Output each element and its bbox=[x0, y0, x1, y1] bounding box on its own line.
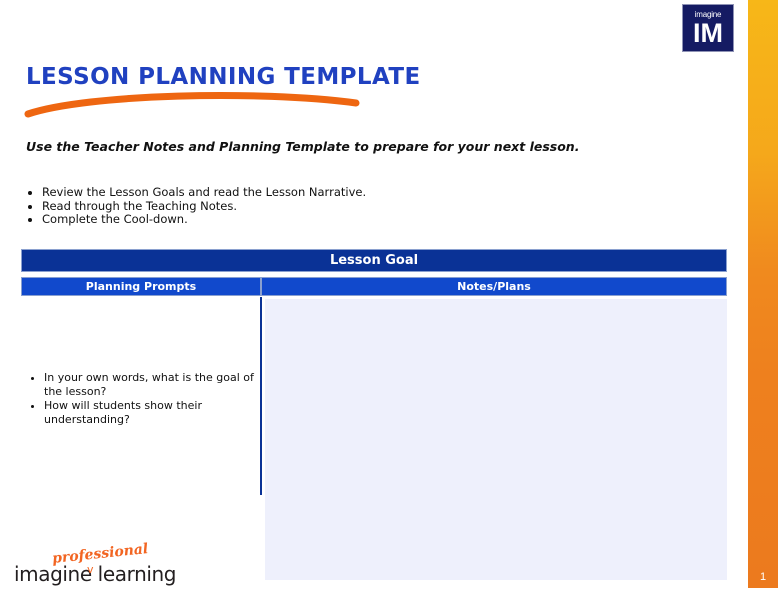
document-page: 1 imagine IM LESSON PLANNING TEMPLATE Us… bbox=[0, 0, 778, 598]
planning-prompts-list: In your own words, what is the goal of t… bbox=[28, 371, 269, 427]
intro-text: Use the Teacher Notes and Planning Templ… bbox=[26, 139, 579, 154]
page-accent-strip bbox=[748, 0, 778, 588]
list-item: In your own words, what is the goal of t… bbox=[44, 371, 269, 398]
list-item: Review the Lesson Goals and read the Les… bbox=[42, 186, 366, 200]
page-title: LESSON PLANNING TEMPLATE bbox=[26, 64, 421, 90]
list-item: Complete the Cool-down. bbox=[42, 213, 366, 227]
list-item: Read through the Teaching Notes. bbox=[42, 200, 366, 214]
table-column-header-notes-plans: Notes/Plans bbox=[261, 277, 727, 296]
table-column-header-planning-prompts: Planning Prompts bbox=[21, 277, 261, 296]
table-section-title: Lesson Goal bbox=[21, 249, 727, 272]
list-item: How will students show their understandi… bbox=[44, 399, 269, 426]
notes-plans-input-area[interactable] bbox=[265, 299, 727, 580]
imagine-learning-footer-logo: professional imagine learning v bbox=[14, 546, 194, 586]
page-number: 1 bbox=[748, 566, 778, 588]
imagine-im-logo: imagine IM bbox=[682, 4, 734, 52]
orange-swoosh-icon bbox=[18, 88, 368, 120]
steps-list: Review the Lesson Goals and read the Les… bbox=[26, 186, 366, 227]
footer-logo-caret-icon: v bbox=[87, 563, 94, 576]
footer-logo-name: imagine learning bbox=[14, 562, 176, 586]
imagine-im-logo-mark: IM bbox=[683, 18, 733, 48]
